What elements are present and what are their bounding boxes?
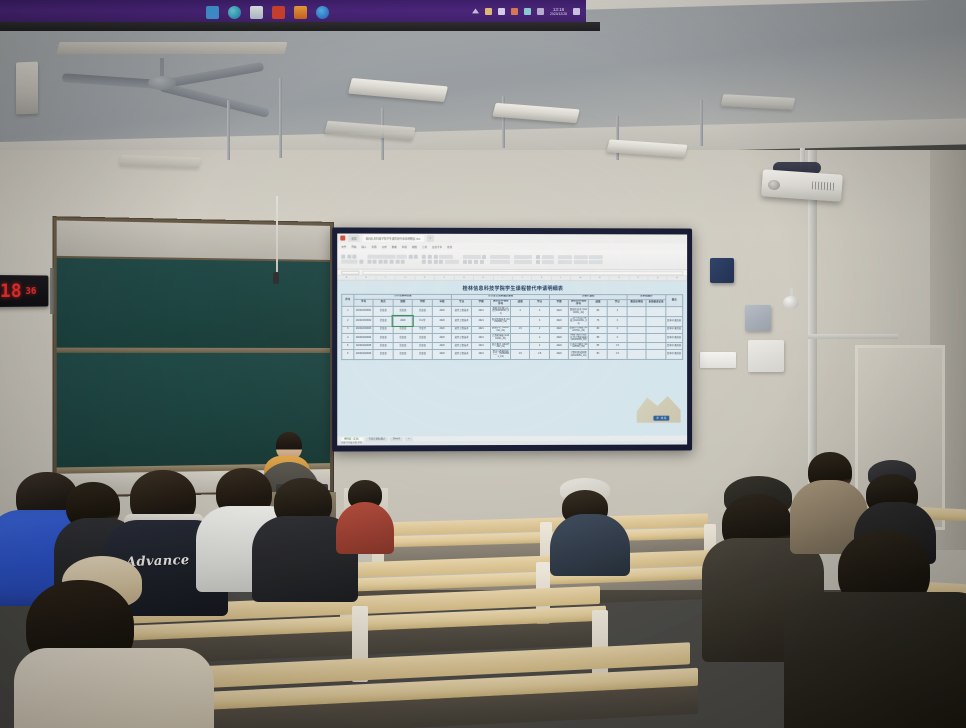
table-cell[interactable]: 1.5	[608, 343, 627, 350]
table-cell[interactable]: 复审中 教务处	[666, 343, 683, 350]
wall-led-clock: 18 36	[0, 275, 48, 307]
th-credit-failed: 学分	[530, 299, 549, 307]
menu-item-formula[interactable]: 公式	[382, 244, 387, 248]
sheet-tab-failed[interactable]: 专业计划未通过	[366, 437, 388, 441]
table-cell[interactable]: 复审中 教务处	[666, 316, 683, 326]
table-cell[interactable]: 二维平面设计基础 (10A0230L_01)	[569, 316, 588, 326]
table-cell[interactable]: 2020	[432, 326, 452, 333]
table-cell[interactable]: 范某某	[373, 326, 393, 333]
table-cell[interactable]: 1.5	[510, 350, 529, 360]
table-cell[interactable]	[646, 333, 665, 343]
menu-item-view[interactable]: 视图	[412, 244, 417, 248]
table-cell[interactable]	[510, 343, 529, 350]
table-cell[interactable]: 范某某	[393, 343, 413, 350]
table-cell[interactable]: 2	[530, 343, 549, 350]
table-cell[interactable]: 范某某	[373, 316, 393, 326]
start-icon[interactable]	[206, 6, 219, 19]
wps-tab-home[interactable]: 首页	[348, 235, 359, 242]
col-J[interactable]: J	[513, 276, 532, 280]
col-P[interactable]: P	[629, 276, 648, 280]
col-K[interactable]: K	[532, 276, 551, 280]
table-cell[interactable]: 202010000002	[354, 316, 374, 326]
table-cell[interactable]	[627, 333, 646, 343]
table-cell[interactable]: 2022	[549, 333, 568, 343]
menu-item-review[interactable]: 审阅	[402, 244, 407, 248]
th-system-change-log: 系统修改记录	[646, 299, 665, 307]
table-cell[interactable]: 范某某	[413, 333, 433, 343]
table-cell[interactable]: 4	[510, 307, 529, 317]
col-I[interactable]: I	[493, 276, 512, 280]
ribbon-group-alignment[interactable]	[422, 255, 459, 264]
projection-screen[interactable]: 首页 桂林信息科技学院学生课程替代申请明细表.xlsx + 文件 开始 插入 页…	[332, 227, 692, 451]
table-cell[interactable]: 3	[342, 326, 354, 333]
th-academic-affairs-review: 教务处审核	[627, 299, 646, 307]
table-row[interactable]: 2202010000002范某某2020Fxx学2020软件工程技术2021商业…	[342, 316, 683, 326]
table-cell[interactable]: 计算机组成原理 (10A0305L_01)	[569, 350, 588, 360]
th-student-id: 学号	[354, 299, 374, 307]
table-cell[interactable]: 85	[588, 343, 607, 350]
wps-logo-icon	[340, 236, 345, 241]
table-cell[interactable]: 软件工程技术	[452, 350, 472, 360]
table-cell[interactable]: 2022	[549, 326, 568, 333]
th-term-sub: 学期	[549, 299, 568, 307]
formula-input[interactable]	[362, 270, 683, 275]
sheet-tab-add[interactable]: +	[405, 437, 412, 441]
wall-monitor-taskbar[interactable]: 13:18 2023/12/28	[0, 0, 586, 24]
student-beige-hat	[10, 556, 210, 728]
th-term-failed: 学期	[471, 299, 491, 307]
table-cell[interactable]: 80	[588, 350, 607, 360]
status-bar: 就绪 平均值 计数 求和	[337, 441, 687, 446]
volume-icon[interactable]	[511, 8, 518, 15]
table-cell[interactable]	[627, 307, 646, 317]
table-cell[interactable]: 2022	[549, 350, 568, 360]
table-cell[interactable]: 202010000006	[354, 350, 374, 360]
wps-ribbon-toolbar[interactable]	[337, 250, 687, 271]
col-F[interactable]: F	[435, 276, 455, 280]
student-dark-hoodie-right	[790, 530, 966, 728]
student-jacket	[550, 514, 630, 576]
projected-desktop[interactable]: 首页 桂林信息科技学院学生课程替代申请明细表.xlsx + 文件 开始 插入 页…	[337, 233, 687, 445]
table-cell[interactable]: 学某学	[413, 326, 433, 333]
th-grade-year: 年级	[432, 299, 452, 307]
table-cell[interactable]: 202010000003	[354, 326, 374, 333]
spreadsheet-table[interactable]: 序号 ①学生基本信息 ②专业计划未通过课程 ③替代课程 ④审核操作 备注 学号 …	[341, 294, 683, 360]
explorer-icon[interactable]	[250, 6, 263, 19]
table-cell[interactable]: 软件工程技术	[452, 326, 472, 333]
col-O[interactable]: O	[610, 276, 629, 280]
wps-tab-document[interactable]: 桂林信息科技学院学生课程替代申请明细表.xlsx	[363, 235, 424, 242]
table-cell[interactable]: 1.5	[510, 326, 529, 333]
table-cell[interactable]: 范某某	[393, 326, 413, 333]
table-cell[interactable]: 2	[608, 326, 627, 333]
table-cell[interactable]: 2020	[432, 333, 452, 343]
table-cell[interactable]: 6	[342, 350, 354, 360]
table-cell[interactable]	[666, 307, 683, 317]
ribbon-group-styles[interactable]	[490, 255, 510, 263]
table-cell[interactable]: 范某某	[373, 343, 393, 350]
table-cell[interactable]	[646, 307, 665, 317]
table-cell[interactable]: 2021	[471, 307, 491, 317]
table-cell[interactable]: 3	[608, 307, 627, 317]
table-cell[interactable]: 2	[530, 333, 549, 343]
battery-icon[interactable]	[537, 8, 544, 15]
table-cell[interactable]: 2020	[393, 316, 413, 326]
app-icon[interactable]	[294, 6, 307, 19]
table-cell[interactable]: 3	[530, 307, 549, 317]
menu-item-member[interactable]: 会员专享	[432, 244, 442, 248]
table-cell[interactable]: 数据中心 (10A0701L_01)	[491, 326, 511, 333]
wps-icon[interactable]	[272, 6, 285, 19]
table-cell[interactable]: 2020	[432, 316, 452, 326]
table-cell[interactable]: 网络与操作系统 (大学计算机基础) (10A0103L_01)	[569, 333, 588, 343]
th-major: 专业	[452, 299, 472, 307]
table-cell[interactable]	[510, 333, 529, 343]
table-cell[interactable]: 5	[342, 343, 354, 350]
table-cell[interactable]: 202010000004	[354, 333, 374, 343]
table-row[interactable]: 4202010000004范某某范某某范某某2020软件工程技术2021计算机基…	[342, 333, 683, 343]
ribbon-group-font[interactable]	[367, 255, 418, 264]
table-cell[interactable]: 数据库技术 (10A0203L_02)	[569, 307, 588, 317]
taskbar-icon-group[interactable]	[206, 6, 329, 19]
th-college: 学院	[413, 299, 433, 307]
table-cell[interactable]: 3	[608, 316, 627, 326]
wall-pipe-vertical	[808, 150, 817, 490]
table-cell[interactable]: 范某某	[373, 333, 393, 343]
security-camera-icon	[783, 296, 799, 309]
ribbon-group-cells[interactable]	[514, 255, 532, 263]
table-cell[interactable]: 艺术设计概论 (10A0722L_02)	[569, 343, 588, 350]
table-cell[interactable]	[627, 350, 646, 360]
col-C[interactable]: C	[376, 276, 396, 280]
screen-pull-handle[interactable]	[273, 272, 279, 284]
notification-icon[interactable]	[573, 8, 580, 15]
table-cell[interactable]: 范某某	[373, 350, 393, 360]
table-cell[interactable]: 范某某	[393, 350, 413, 360]
table-cell[interactable]: 76	[588, 316, 607, 326]
network-panel-box[interactable]	[748, 340, 784, 372]
student-back-row-left	[334, 480, 396, 550]
table-cell[interactable]: 2022	[549, 307, 568, 317]
table-cell[interactable]: 3	[530, 316, 549, 326]
name-box[interactable]	[341, 270, 359, 274]
table-cell[interactable]	[510, 316, 529, 326]
table-cell[interactable]: 算法与数据结构（二） (10A0301L_01)	[491, 350, 511, 360]
led-clock-small-digits: 36	[25, 286, 36, 297]
table-cell[interactable]: 复审中 教务处	[666, 333, 683, 343]
student-hoodie	[784, 592, 966, 728]
table-cell[interactable]: 软件工程技术	[452, 343, 472, 350]
table-cell[interactable]: 统计概论 (10A0722L_01)	[491, 343, 511, 350]
table-row[interactable]: 6202010000006范某某范某某范某某2020软件工程技术2021算法与数…	[342, 350, 683, 360]
wall-speaker	[710, 258, 734, 283]
menu-item-insert[interactable]: 插入	[361, 244, 366, 248]
classroom-scene: 13:18 2023/12/28 18 36	[0, 0, 966, 728]
table-cell[interactable]: 2022	[549, 343, 568, 350]
spreadsheet-body[interactable]: 1202010000001范某某范某某范某某2020软件工程技术2021数据库原…	[342, 307, 683, 360]
wps-tab-new[interactable]: +	[426, 235, 434, 242]
ribbon-group-editing[interactable]	[536, 255, 554, 264]
table-cell[interactable]: 范某某	[393, 333, 413, 343]
th-name: 姓名	[373, 299, 393, 307]
table-row[interactable]: 1202010000001范某某范某某范某某2020软件工程技术2021数据库原…	[342, 307, 683, 317]
search-icon[interactable]: 查找	[447, 244, 452, 248]
wall-info-plate	[700, 352, 736, 368]
group-header-remark: 备注	[666, 295, 683, 307]
table-cell[interactable]	[646, 316, 665, 326]
table-cell[interactable]: 2.5	[530, 350, 549, 360]
student-white-cap	[552, 478, 628, 570]
menu-item-file[interactable]: 文件	[341, 244, 346, 248]
sheet-tab-summary[interactable]: 替代表（汇总）	[341, 437, 363, 441]
table-cell[interactable]: 软件工程技术	[452, 333, 472, 343]
table-cell[interactable]: 2	[342, 316, 354, 326]
monitor-stand	[57, 42, 288, 54]
table-cell[interactable]: 2020	[432, 350, 452, 360]
edge-icon[interactable]	[228, 6, 241, 19]
table-cell[interactable]: 2021	[471, 333, 491, 343]
table-cell[interactable]: 计算机基础 (10A0112L_01)	[491, 333, 511, 343]
table-cell[interactable]	[646, 326, 665, 333]
table-cell[interactable]	[627, 343, 646, 350]
student-coat	[14, 648, 214, 728]
table-cell[interactable]: 4	[342, 333, 354, 343]
table-cell[interactable]: 数据中心基础 (10A0701L_02)	[569, 326, 588, 333]
table-cell[interactable]: 范某某	[393, 307, 413, 317]
col-N[interactable]: N	[591, 276, 610, 280]
table-cell[interactable]: 85	[588, 307, 607, 317]
table-cell[interactable]: 2021	[471, 343, 491, 350]
col-D[interactable]: D	[396, 276, 416, 280]
table-cell[interactable]: 88	[588, 333, 607, 343]
col-B[interactable]: B	[357, 276, 377, 280]
table-cell[interactable]: 1	[342, 307, 354, 317]
menu-item-data[interactable]: 数据	[392, 244, 397, 248]
table-cell[interactable]: 复审中 教务处	[666, 326, 683, 333]
ime-chinese-icon[interactable]	[498, 8, 505, 15]
th-score-failed: 成绩	[510, 299, 529, 307]
table-cell[interactable]: 范某某	[413, 350, 433, 360]
table-cell[interactable]: 软件工程技术	[452, 316, 472, 326]
table-cell[interactable]	[627, 316, 646, 326]
menu-item-tools[interactable]: 工具	[422, 244, 427, 248]
group-header-index: 序号	[342, 294, 354, 306]
ime-hand-icon[interactable]	[485, 8, 492, 15]
col-M[interactable]: M	[571, 276, 590, 280]
taskbar-clock[interactable]: 13:18 2023/12/28	[550, 7, 567, 16]
led-clock-big-digits: 18	[0, 280, 22, 302]
table-cell[interactable]: 80	[588, 326, 607, 333]
table-cell[interactable]: 范某某	[413, 307, 433, 317]
table-cell[interactable]: 软件工程技术	[452, 307, 472, 317]
taskbar-tray[interactable]: 13:18 2023/12/28	[472, 7, 580, 16]
sheet-tab-sheet1[interactable]: Sheet1	[390, 437, 403, 441]
table-cell[interactable]: Fxx学	[413, 316, 433, 326]
browser-icon[interactable]	[316, 6, 329, 19]
table-cell[interactable]: 数据库原理与应用 (10A0203L_01)	[491, 307, 511, 317]
screen-pull-cord[interactable]	[276, 196, 278, 274]
wall-pipe-horizontal	[808, 334, 898, 339]
monitor-bottom-bezel	[0, 22, 600, 31]
table-cell[interactable]: 2	[530, 326, 549, 333]
table-cell[interactable]: 202010000005	[354, 343, 374, 350]
table-cell[interactable]	[646, 343, 665, 350]
spreadsheet-title: 桂林信息科技学院学生课程替代申请明细表	[341, 283, 683, 294]
table-cell[interactable]	[627, 326, 646, 333]
network-icon[interactable]	[524, 8, 531, 15]
table-cell[interactable]: 复审中 教务处	[666, 350, 683, 360]
table-row[interactable]: 3202010000003范某某范某某学某学2020软件工程技术2021数据中心…	[342, 326, 683, 333]
th-course-sub: 课程名称/课程序号	[569, 299, 588, 307]
col-R[interactable]: R	[668, 276, 687, 280]
spreadsheet-grid[interactable]: 桂林信息科技学院学生课程替代申请明细表 序号 ①学生基本信息 ②专业计划未通过课…	[337, 281, 687, 446]
col-H[interactable]: H	[474, 276, 493, 280]
clock-bracket	[50, 268, 54, 314]
ribbon-group-clipboard[interactable]	[341, 255, 363, 264]
th-credit-sub: 学分	[608, 299, 627, 307]
watermark-badge: 审 · 批 核	[653, 415, 669, 420]
col-G[interactable]: G	[455, 276, 474, 280]
col-E[interactable]: E	[416, 276, 436, 280]
ribbon-group-extra[interactable]	[558, 255, 603, 263]
table-cell[interactable]: 2021	[471, 326, 491, 333]
menu-item-home[interactable]: 开始	[351, 244, 356, 248]
taskbar-date: 2023/12/28	[550, 13, 567, 17]
chevron-up-icon[interactable]	[472, 8, 479, 15]
table-cell[interactable]: 2020	[432, 343, 452, 350]
menu-item-page[interactable]: 页面	[372, 244, 377, 248]
table-cell[interactable]: 2	[608, 333, 627, 343]
th-score-sub: 成绩	[588, 299, 607, 307]
table-cell[interactable]: 202010000001	[354, 307, 374, 317]
th-class: 班级	[393, 299, 413, 307]
col-L[interactable]: L	[552, 276, 571, 280]
table-cell[interactable]: 1.5	[608, 350, 627, 360]
table-cell[interactable]: 2022	[549, 316, 568, 326]
table-cell[interactable]: 2021	[471, 316, 491, 326]
col-A[interactable]: A	[337, 276, 357, 280]
control-panel-box[interactable]	[745, 305, 771, 331]
col-Q[interactable]: Q	[648, 276, 667, 280]
table-cell[interactable]	[646, 350, 665, 360]
student-jacket	[336, 502, 394, 554]
table-cell[interactable]: 范某某	[413, 343, 433, 350]
th-course-failed: 课程名称/课程序号	[491, 299, 511, 307]
table-cell[interactable]: 2020	[432, 307, 452, 317]
table-cell[interactable]: 商业智能技术 (10A0294L_01)	[491, 316, 511, 326]
table-cell[interactable]: 范某某	[373, 307, 393, 317]
table-cell[interactable]: 2021	[471, 350, 491, 360]
ribbon-group-number[interactable]	[463, 255, 487, 264]
